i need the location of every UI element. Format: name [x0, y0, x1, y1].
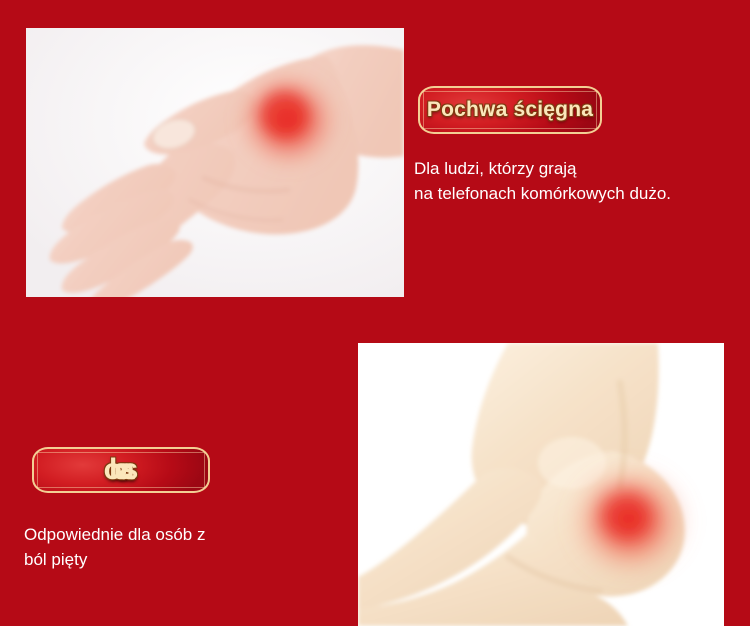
caption-tendon-line-2: na telefonach komórkowych dużo.: [414, 181, 671, 206]
badge-tendon: Pochwa ścięgna: [418, 86, 602, 134]
promo-banner: Pochwa ścięgna Dla ludzi, którzy grają n…: [0, 0, 750, 626]
hand-wrist-inflammation-photo: [26, 28, 404, 297]
caption-tendon-line-1: Dla ludzi, którzy grają: [414, 156, 671, 181]
caption-heel-line-1: Odpowiednie dla osób z: [24, 522, 205, 547]
badge-heel-label: obcas: [104, 453, 139, 487]
badge-heel: obcas: [32, 447, 210, 493]
foot-heel-inflammation-photo: [358, 343, 724, 626]
caption-heel-line-2: ból pięty: [24, 547, 205, 572]
badge-tendon-label: Pochwa ścięgna: [427, 98, 593, 122]
caption-heel: Odpowiednie dla osób z ból pięty: [24, 522, 205, 572]
caption-tendon: Dla ludzi, którzy grają na telefonach ko…: [414, 156, 671, 206]
